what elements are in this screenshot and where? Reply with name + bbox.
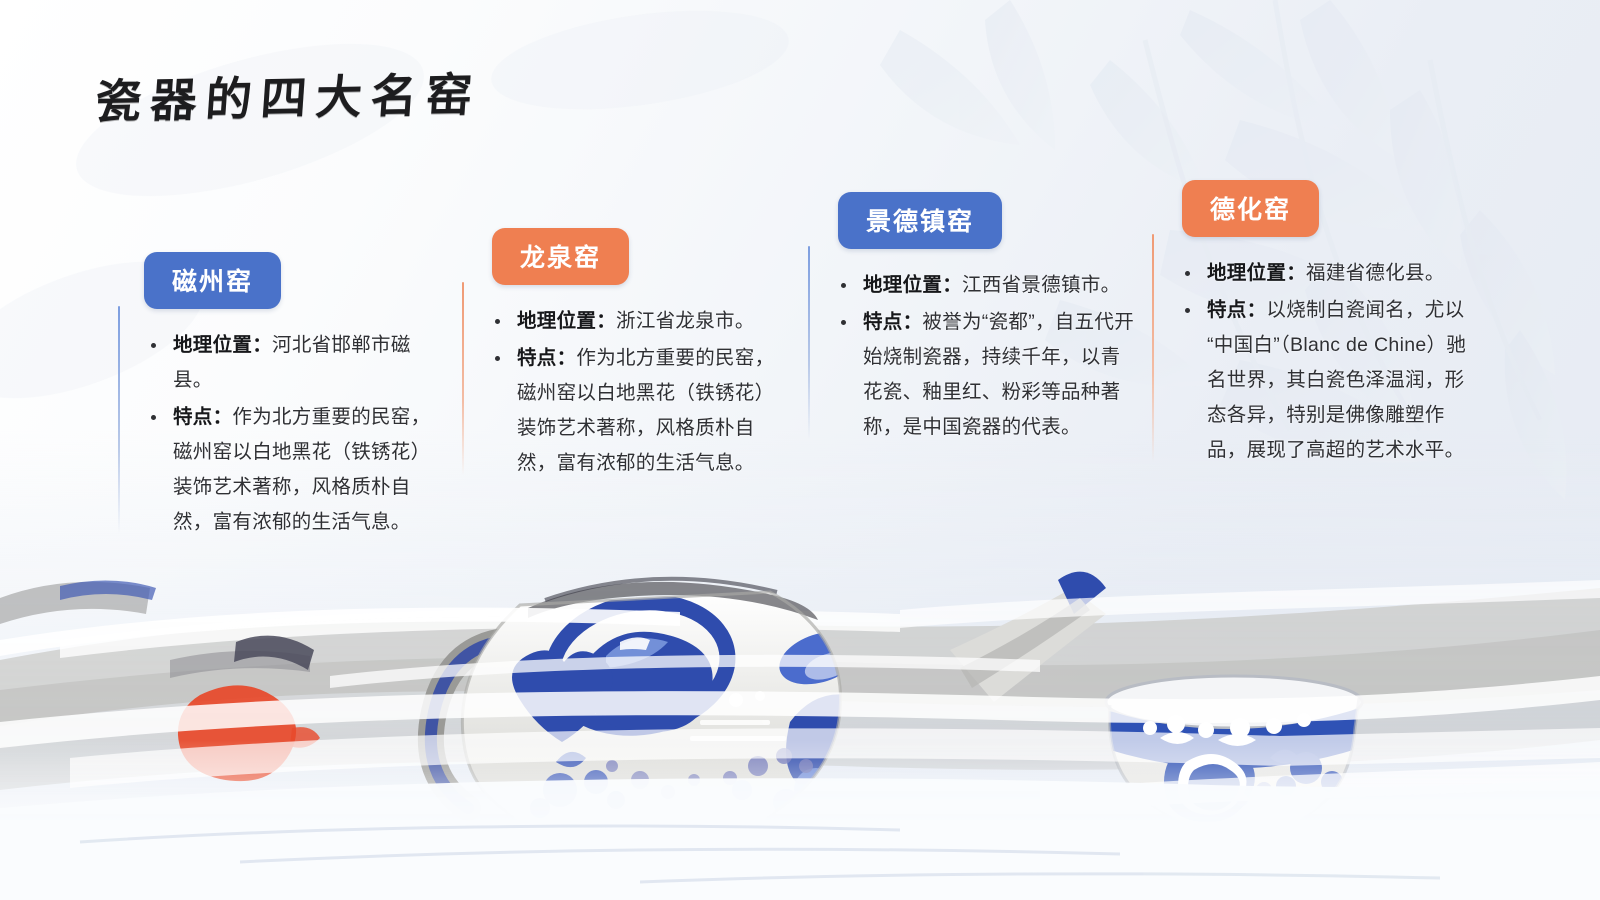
list-item: 地理位置：福建省德化县。 bbox=[1178, 256, 1482, 291]
point-label: 地理位置： bbox=[173, 334, 272, 356]
bullet-dot-icon bbox=[495, 319, 500, 324]
bottom-snow bbox=[0, 778, 1600, 900]
kiln-card-longquan[interactable]: 龙泉窑 地理位置：浙江省龙泉市。 特点：作为北方重要的民窑，磁州窑以白地黑花（铁… bbox=[462, 228, 792, 483]
kiln-body-dehua: 地理位置：福建省德化县。 特点：以烧制白瓷闻名，尤以“中国白”（Blanc de… bbox=[1152, 256, 1482, 468]
accent-rail bbox=[808, 246, 810, 439]
accent-rail bbox=[462, 282, 464, 475]
list-item: 特点：被誉为“瓷都”，自五代开始烧制瓷器，持续千年，以青花瓷、釉里红、粉彩等品种… bbox=[834, 305, 1138, 445]
point-label: 地理位置： bbox=[1207, 262, 1306, 284]
list-item: 特点：作为北方重要的民窑，磁州窑以白地黑花（铁锈花）装饰艺术著称，风格质朴自然，… bbox=[488, 341, 792, 481]
point-text: 江西省景德镇市。 bbox=[962, 274, 1120, 296]
kiln-body-jingdezhen: 地理位置：江西省景德镇市。 特点：被誉为“瓷都”，自五代开始烧制瓷器，持续千年，… bbox=[808, 268, 1138, 445]
bullet-dot-icon bbox=[151, 415, 156, 420]
kiln-card-jingdezhen[interactable]: 景德镇窑 地理位置：江西省景德镇市。 特点：被誉为“瓷都”，自五代开始烧制瓷器，… bbox=[808, 192, 1138, 447]
accent-rail bbox=[1152, 234, 1154, 462]
bullet-dot-icon bbox=[151, 343, 156, 348]
kiln-badge-jingdezhen[interactable]: 景德镇窑 bbox=[838, 192, 1002, 249]
kiln-badge-cizhou[interactable]: 磁州窑 bbox=[144, 252, 281, 309]
bullet-dot-icon bbox=[495, 356, 500, 361]
list-item: 地理位置：江西省景德镇市。 bbox=[834, 268, 1138, 303]
bullet-dot-icon bbox=[1185, 271, 1190, 276]
point-label: 特点： bbox=[863, 311, 922, 333]
page-title: 瓷器的四大名窑 bbox=[93, 58, 483, 131]
list-item: 地理位置：河北省邯郸市磁县。 bbox=[144, 328, 448, 398]
kiln-badge-dehua[interactable]: 德化窑 bbox=[1182, 180, 1319, 237]
kiln-body-longquan: 地理位置：浙江省龙泉市。 特点：作为北方重要的民窑，磁州窑以白地黑花（铁锈花）装… bbox=[462, 304, 792, 481]
list-item: 特点：以烧制白瓷闻名，尤以“中国白”（Blanc de Chine）驰名世界，其… bbox=[1178, 293, 1482, 468]
bullet-dot-icon bbox=[841, 283, 846, 288]
bullet-dot-icon bbox=[841, 320, 846, 325]
point-text: 福建省德化县。 bbox=[1306, 262, 1445, 284]
list-item: 地理位置：浙江省龙泉市。 bbox=[488, 304, 792, 339]
point-label: 地理位置： bbox=[517, 310, 616, 332]
point-text: 浙江省龙泉市。 bbox=[616, 310, 755, 332]
kiln-badge-longquan[interactable]: 龙泉窑 bbox=[492, 228, 629, 285]
point-label: 地理位置： bbox=[863, 274, 962, 296]
bullet-dot-icon bbox=[1185, 308, 1190, 313]
porcelain-artwork bbox=[0, 490, 1600, 900]
slide-canvas: 瓷器的四大名窑 磁州窑 地理位置：河北省邯郸市磁县。 特点：作为北方重要的民窑，… bbox=[0, 0, 1600, 900]
kiln-card-dehua[interactable]: 德化窑 地理位置：福建省德化县。 特点：以烧制白瓷闻名，尤以“中国白”（Blan… bbox=[1152, 180, 1482, 470]
point-label: 特点： bbox=[173, 406, 232, 428]
point-label: 特点： bbox=[517, 347, 576, 369]
point-label: 特点： bbox=[1207, 299, 1266, 321]
point-text: 以烧制白瓷闻名，尤以“中国白”（Blanc de Chine）驰名世界，其白瓷色… bbox=[1207, 299, 1466, 461]
left-porcelain-fragment bbox=[0, 580, 156, 624]
